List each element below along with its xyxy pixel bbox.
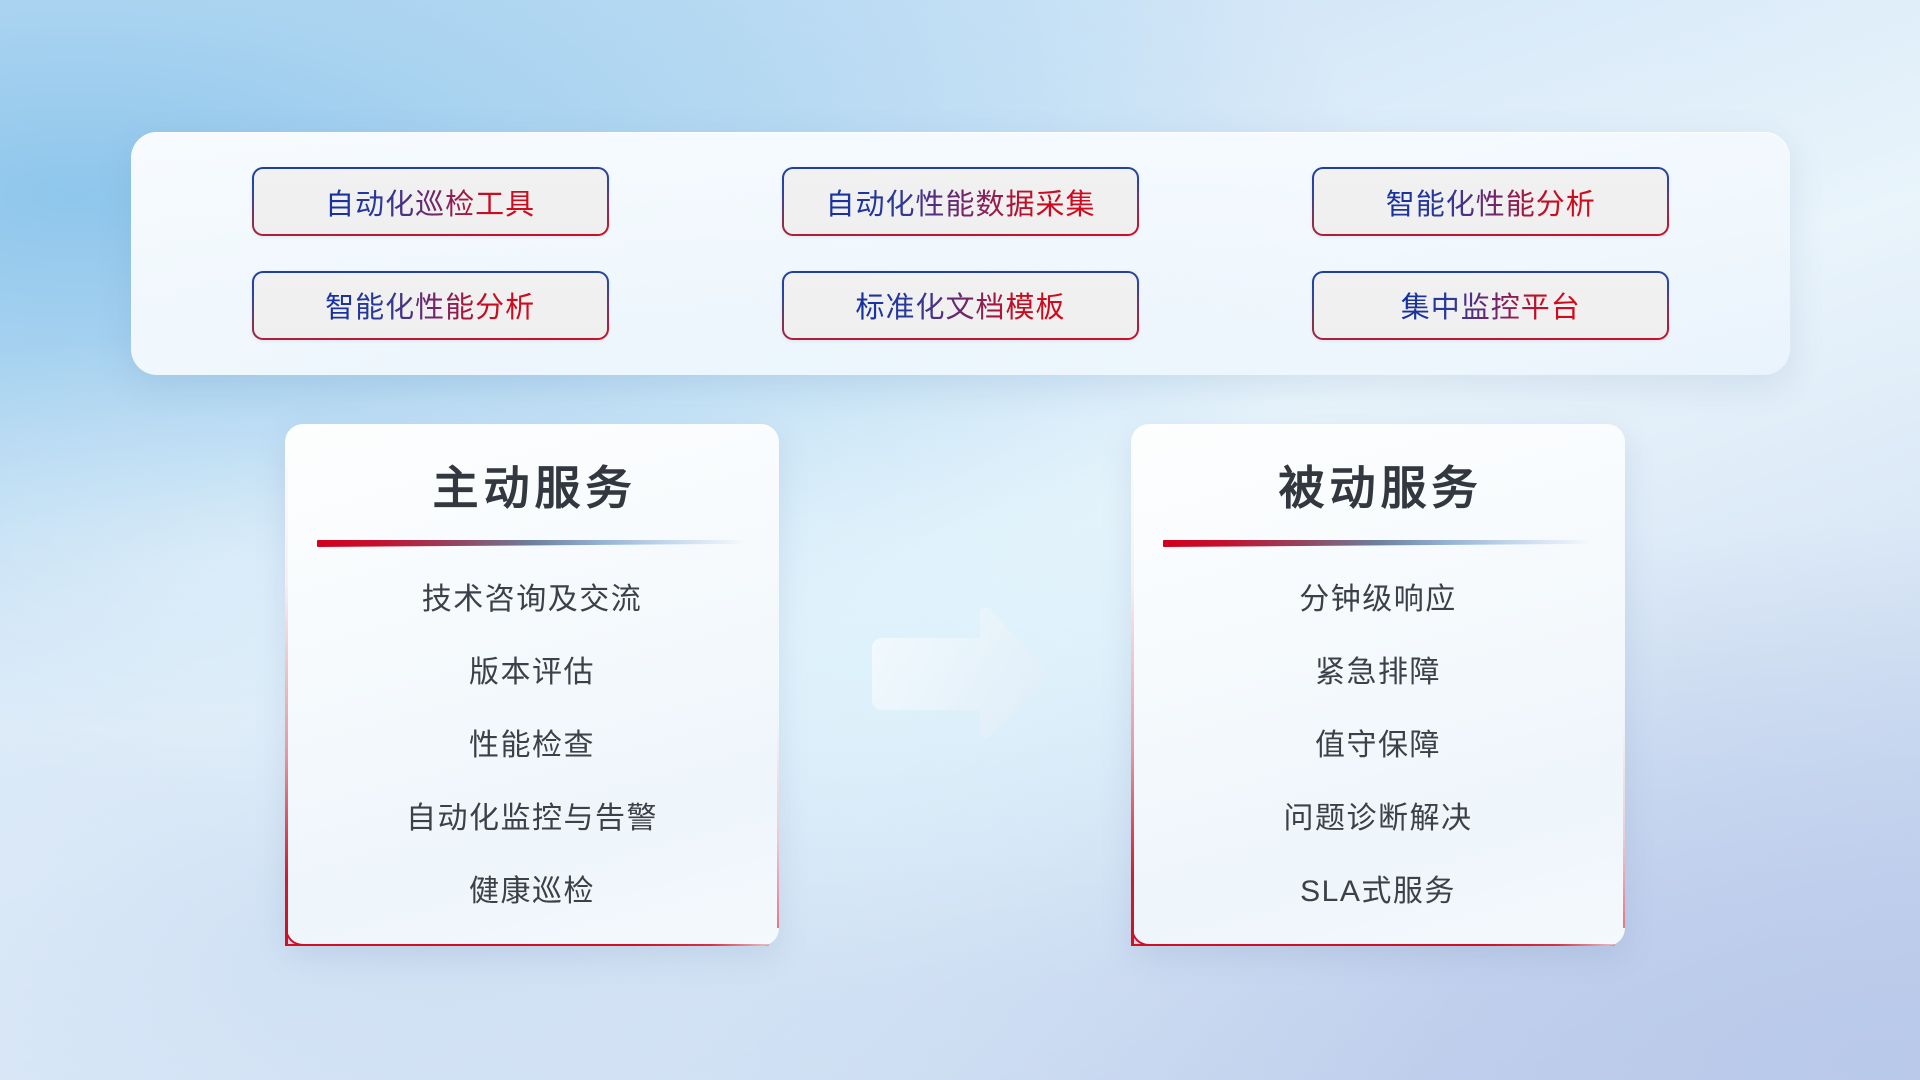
capability-pill-label: 自动化性能数据采集 [825,181,1095,223]
list-item: 紧急排障 [1131,658,1625,688]
card-accent-bottom-edge [1131,944,1615,947]
capability-panel: 自动化巡检工具 自动化性能数据采集 智能化性能分析 智能化性能分析 标准化文档模… [131,132,1790,375]
capability-pill-4[interactable]: 智能化性能分析 [252,271,609,340]
card-accent-bottom-edge [285,944,769,947]
card-accent-corner [285,926,305,946]
list-item: 问题诊断解决 [1131,804,1625,834]
capability-pill-label: 智能化性能分析 [1386,181,1596,223]
slide-canvas: 自动化巡检工具 自动化性能数据采集 智能化性能分析 智能化性能分析 标准化文档模… [0,0,1920,1080]
service-item-list: 技术咨询及交流 版本评估 性能检查 自动化监控与告警 健康巡检 [285,547,779,907]
list-item: 性能检查 [285,731,779,761]
title-divider [1163,540,1593,547]
list-item: 自动化监控与告警 [285,804,779,834]
list-item: 技术咨询及交流 [285,585,779,615]
capability-pill-1[interactable]: 自动化巡检工具 [252,167,609,236]
title-divider [317,540,747,547]
capability-pill-5[interactable]: 标准化文档模板 [782,271,1139,340]
list-item: 值守保障 [1131,731,1625,761]
capability-pill-label: 集中监控平台 [1401,284,1581,326]
arrow-right-icon [866,608,1048,740]
capability-pill-3[interactable]: 智能化性能分析 [1312,167,1669,236]
list-item: 版本评估 [285,658,779,688]
capability-pill-label: 智能化性能分析 [325,284,535,326]
card-accent-corner [1131,926,1151,946]
card-title: 被动服务 [1131,424,1625,518]
capability-pill-grid: 自动化巡检工具 自动化性能数据采集 智能化性能分析 智能化性能分析 标准化文档模… [131,132,1790,375]
service-card-proactive: 主动服务 技术咨询及交流 版本评估 性能检查 自动化监控与告警 健康巡检 [285,424,779,946]
service-card-reactive: 被动服务 分钟级响应 紧急排障 值守保障 问题诊断解决 SLA式服务 [1131,424,1625,946]
service-item-list: 分钟级响应 紧急排障 值守保障 问题诊断解决 SLA式服务 [1131,547,1625,907]
capability-pill-2[interactable]: 自动化性能数据采集 [782,167,1139,236]
card-title: 主动服务 [285,424,779,518]
list-item: 健康巡检 [285,877,779,907]
capability-pill-6[interactable]: 集中监控平台 [1312,271,1669,340]
capability-pill-label: 自动化巡检工具 [325,181,535,223]
list-item: SLA式服务 [1131,877,1625,907]
list-item: 分钟级响应 [1131,585,1625,615]
capability-pill-label: 标准化文档模板 [855,284,1065,326]
